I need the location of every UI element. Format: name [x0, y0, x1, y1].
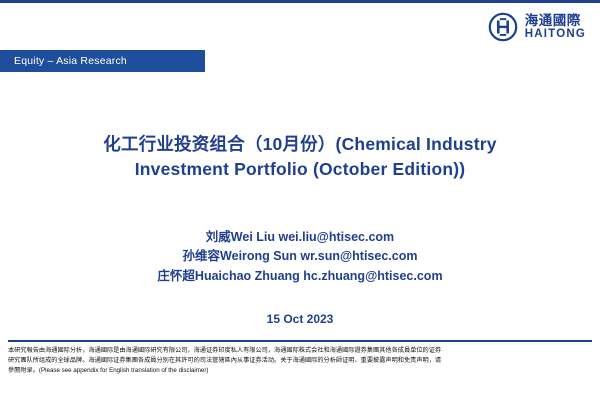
company-logo: 海通國際 HAITONG — [488, 12, 586, 42]
disclaimer-line: 參閱附录。(Please see appendix for English tr… — [8, 366, 592, 376]
slide-root: 海通國際 HAITONG Equity – Asia Research 化工行业… — [0, 0, 600, 414]
disclaimer-line: 研究團队所组成的全球品牌。海通國际证券集團各成員分别在其許可的司法管辖區內从事证… — [8, 356, 592, 366]
research-banner: Equity – Asia Research — [0, 50, 205, 72]
disclaimer-divider — [8, 340, 592, 342]
page-title-line-2: Investment Portfolio (October Edition)) — [40, 157, 560, 182]
publication-date: 15 Oct 2023 — [40, 312, 560, 326]
logo-wordmark: 海通國際 HAITONG — [525, 14, 586, 40]
top-divider — [0, 0, 600, 3]
author-entry: 刘威Wei Liu wei.liu@htisec.com — [40, 228, 560, 247]
haitong-circle-logo-icon — [488, 12, 518, 42]
author-list: 刘威Wei Liu wei.liu@htisec.com 孙维容Weirong … — [40, 228, 560, 286]
author-entry: 孙维容Weirong Sun wr.sun@htisec.com — [40, 247, 560, 266]
page-title: 化工行业投资组合（10月份）(Chemical Industry Investm… — [40, 132, 560, 182]
logo-name-cn: 海通國際 — [525, 14, 586, 28]
logo-name-en: HAITONG — [525, 28, 586, 40]
author-entry: 庄怀超Huaichao Zhuang hc.zhuang@htisec.com — [40, 267, 560, 286]
page-title-line-1: 化工行业投资组合（10月份）(Chemical Industry — [40, 132, 560, 157]
research-banner-label: Equity – Asia Research — [0, 55, 127, 67]
disclaimer-text: 本研究報告由海通國际分析，海通國际是由海通國际研究有限公司，海通证券印度私人有限… — [8, 346, 592, 376]
disclaimer-line: 本研究報告由海通國际分析，海通國际是由海通國际研究有限公司，海通证券印度私人有限… — [8, 346, 592, 356]
